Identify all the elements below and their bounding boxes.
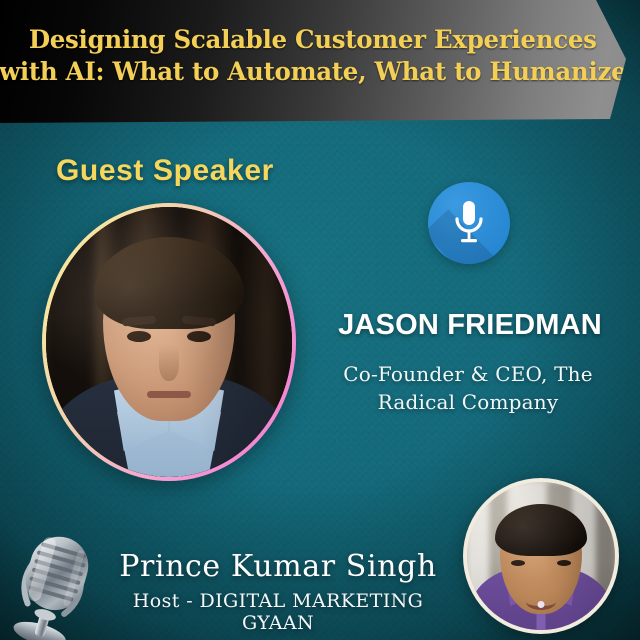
guest-speaker-name: JASON FRIEDMAN bbox=[320, 309, 620, 342]
microphone-icon bbox=[454, 201, 484, 245]
webinar-promo-poster: Designing Scalable Customer Experiences … bbox=[0, 0, 640, 640]
banner-title-line-2: with AI: What to Automate, What to Human… bbox=[0, 56, 627, 88]
host-role: Host - DIGITAL MARKETING GYAAN bbox=[96, 590, 460, 634]
host-name: Prince Kumar Singh bbox=[96, 549, 460, 584]
portrait-lighting bbox=[46, 207, 292, 477]
retro-microphone-icon bbox=[8, 524, 100, 640]
host-portrait-lighting bbox=[467, 482, 615, 630]
guest-speaker-avatar bbox=[42, 203, 296, 481]
microphone-badge bbox=[428, 182, 510, 264]
guest-speaker-role-line-2: Radical Company bbox=[318, 388, 618, 416]
guest-speaker-role: Co-Founder & CEO, The Radical Company bbox=[318, 360, 618, 416]
guest-speaker-role-line-1: Co-Founder & CEO, The bbox=[318, 360, 618, 388]
guest-speaker-photo bbox=[46, 207, 292, 477]
title-banner: Designing Scalable Customer Experiences … bbox=[0, 0, 628, 124]
host-photo bbox=[467, 482, 615, 630]
host-avatar bbox=[463, 478, 619, 634]
banner-title-line-1: Designing Scalable Customer Experiences bbox=[29, 24, 597, 56]
guest-speaker-label: Guest Speaker bbox=[56, 154, 274, 188]
